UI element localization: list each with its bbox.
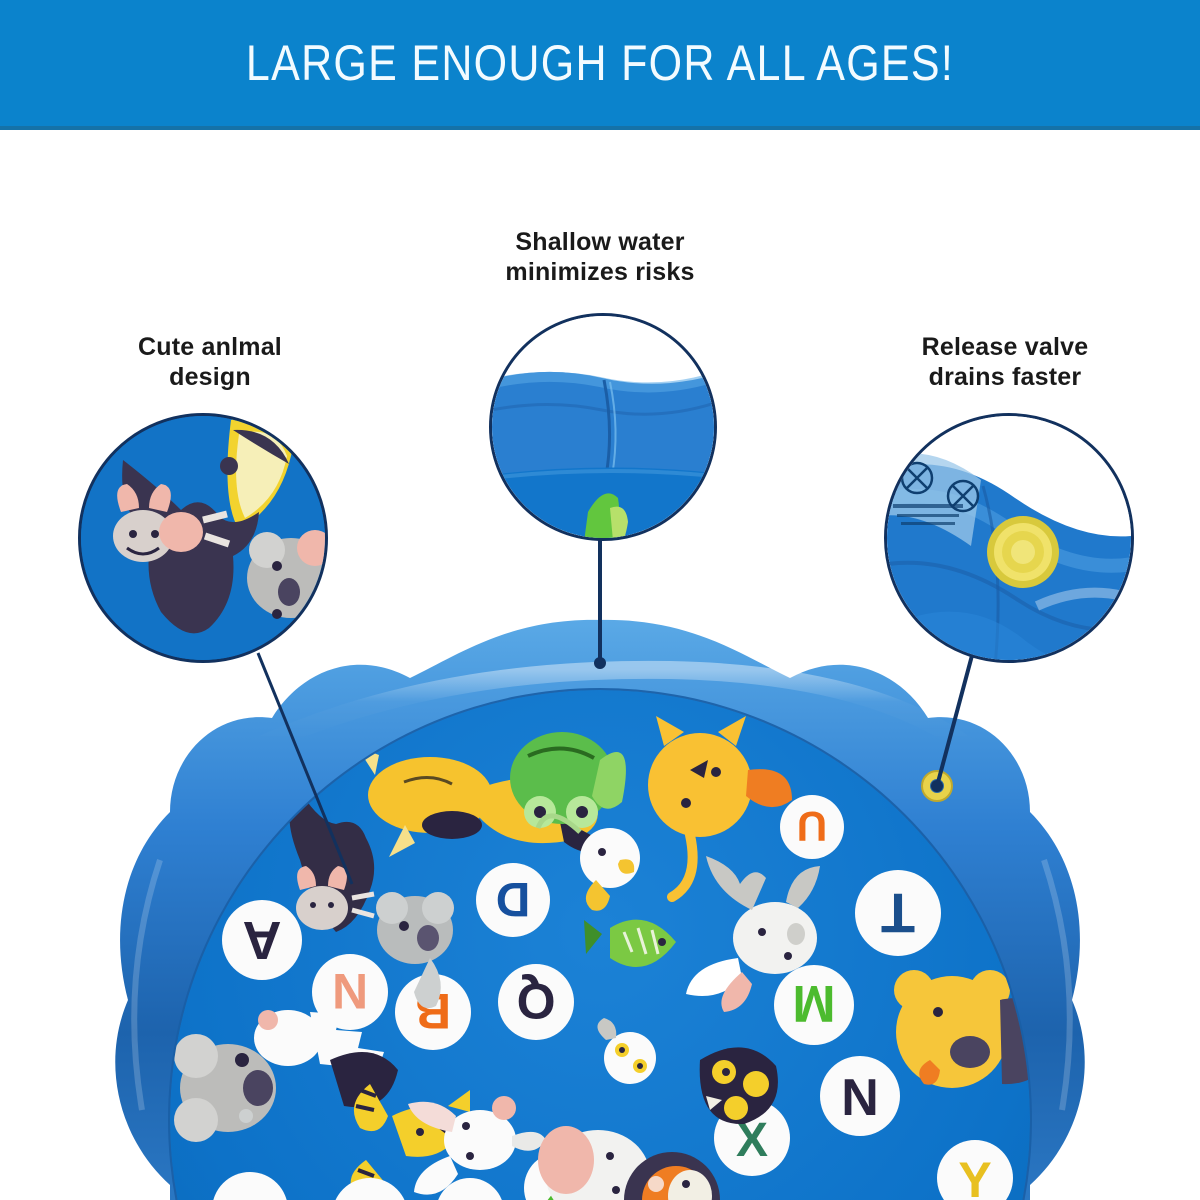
letter-Q: Q [498, 964, 574, 1040]
letter-N2: N [820, 1056, 900, 1136]
svg-text:Q: Q [517, 973, 556, 1029]
callout-circle-release-valve [884, 413, 1134, 663]
letter-A: A [222, 900, 302, 980]
caption-shallow-water: Shallow water minimizes risks [435, 228, 765, 287]
svg-text:Y: Y [958, 1152, 991, 1200]
letter-U: U [780, 795, 844, 859]
yellow-valve-cap[interactable] [987, 516, 1059, 588]
svg-text:A: A [243, 910, 282, 970]
letter-D: D [476, 863, 550, 937]
infographic-page: LARGE ENOUGH FOR ALL AGES! [0, 0, 1200, 1200]
page-title: LARGE ENOUGH FOR ALL AGES! [84, 0, 1116, 126]
svg-text:T: T [881, 882, 915, 945]
header-banner: LARGE ENOUGH FOR ALL AGES! [0, 0, 1200, 130]
callout-circle-cute-animal-design [78, 413, 328, 663]
svg-text:M: M [792, 974, 835, 1032]
svg-text:N: N [841, 1069, 879, 1127]
letter-T: T [855, 870, 941, 956]
callout-circle-shallow-water [489, 313, 717, 541]
letter-M: M [774, 965, 854, 1045]
caption-cute-animal-design: Cute anlmal design [60, 333, 360, 392]
svg-text:U: U [797, 803, 827, 850]
svg-text:D: D [496, 872, 531, 925]
svg-text:N: N [332, 963, 368, 1019]
caption-release-valve: Release valve drains faster [855, 333, 1155, 392]
release-valve[interactable] [922, 771, 952, 801]
